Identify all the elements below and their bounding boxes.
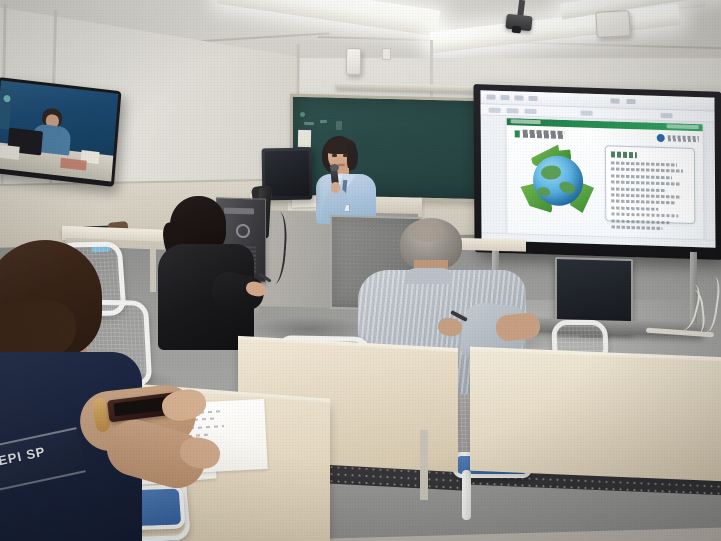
landmass — [537, 187, 550, 196]
toolbar-item[interactable] — [610, 98, 619, 103]
toolbar-item[interactable] — [500, 95, 509, 100]
slide-textbox — [605, 145, 696, 224]
slide-textbox-title — [611, 151, 637, 158]
toolbar-item[interactable] — [514, 95, 523, 100]
presenter — [316, 136, 378, 222]
board-note-paper — [298, 130, 311, 147]
recycling-earth-icon — [521, 143, 596, 219]
slide-logo-text — [668, 135, 699, 142]
attendee-navy: EPI SP — [0, 240, 214, 541]
speaker-icon — [595, 10, 630, 38]
attendee-collar — [406, 268, 452, 284]
ribbon-item[interactable] — [581, 110, 593, 115]
presenter-eye — [332, 154, 337, 157]
chair-post — [462, 470, 471, 520]
chalk-mark — [304, 122, 314, 125]
ribbon-item[interactable] — [507, 108, 519, 113]
toolbar-item[interactable] — [528, 96, 537, 101]
classroom-photo: EPI SP — [0, 0, 721, 541]
chalk-mark — [336, 121, 342, 130]
microphone-head-icon — [330, 164, 339, 171]
attendee-forearm — [495, 312, 541, 342]
ribbon-item[interactable] — [661, 113, 673, 118]
chalk-mark — [320, 120, 327, 123]
presenter-hand — [331, 182, 340, 193]
speaker-icon — [346, 48, 361, 75]
ribbon-item[interactable] — [489, 108, 501, 113]
presenter-eye — [343, 154, 348, 157]
attendee-scalp — [410, 220, 444, 242]
slide-logo-icon — [657, 134, 665, 142]
ribbon-item[interactable] — [525, 109, 537, 114]
chalk-dot — [300, 112, 305, 117]
slide-heading-marker — [515, 130, 520, 137]
slide-heading-text — [523, 130, 565, 139]
presenter-hair-side — [347, 144, 358, 170]
wall-tv — [0, 77, 121, 187]
toolbar-item[interactable] — [626, 99, 635, 104]
wall-plate — [382, 48, 391, 60]
desk — [470, 351, 721, 482]
tv-feed-object — [0, 144, 20, 159]
tv-screen — [0, 80, 118, 181]
desk-leg — [420, 430, 428, 500]
camera-lens-icon — [512, 26, 522, 34]
toolbar-item[interactable] — [486, 94, 495, 99]
